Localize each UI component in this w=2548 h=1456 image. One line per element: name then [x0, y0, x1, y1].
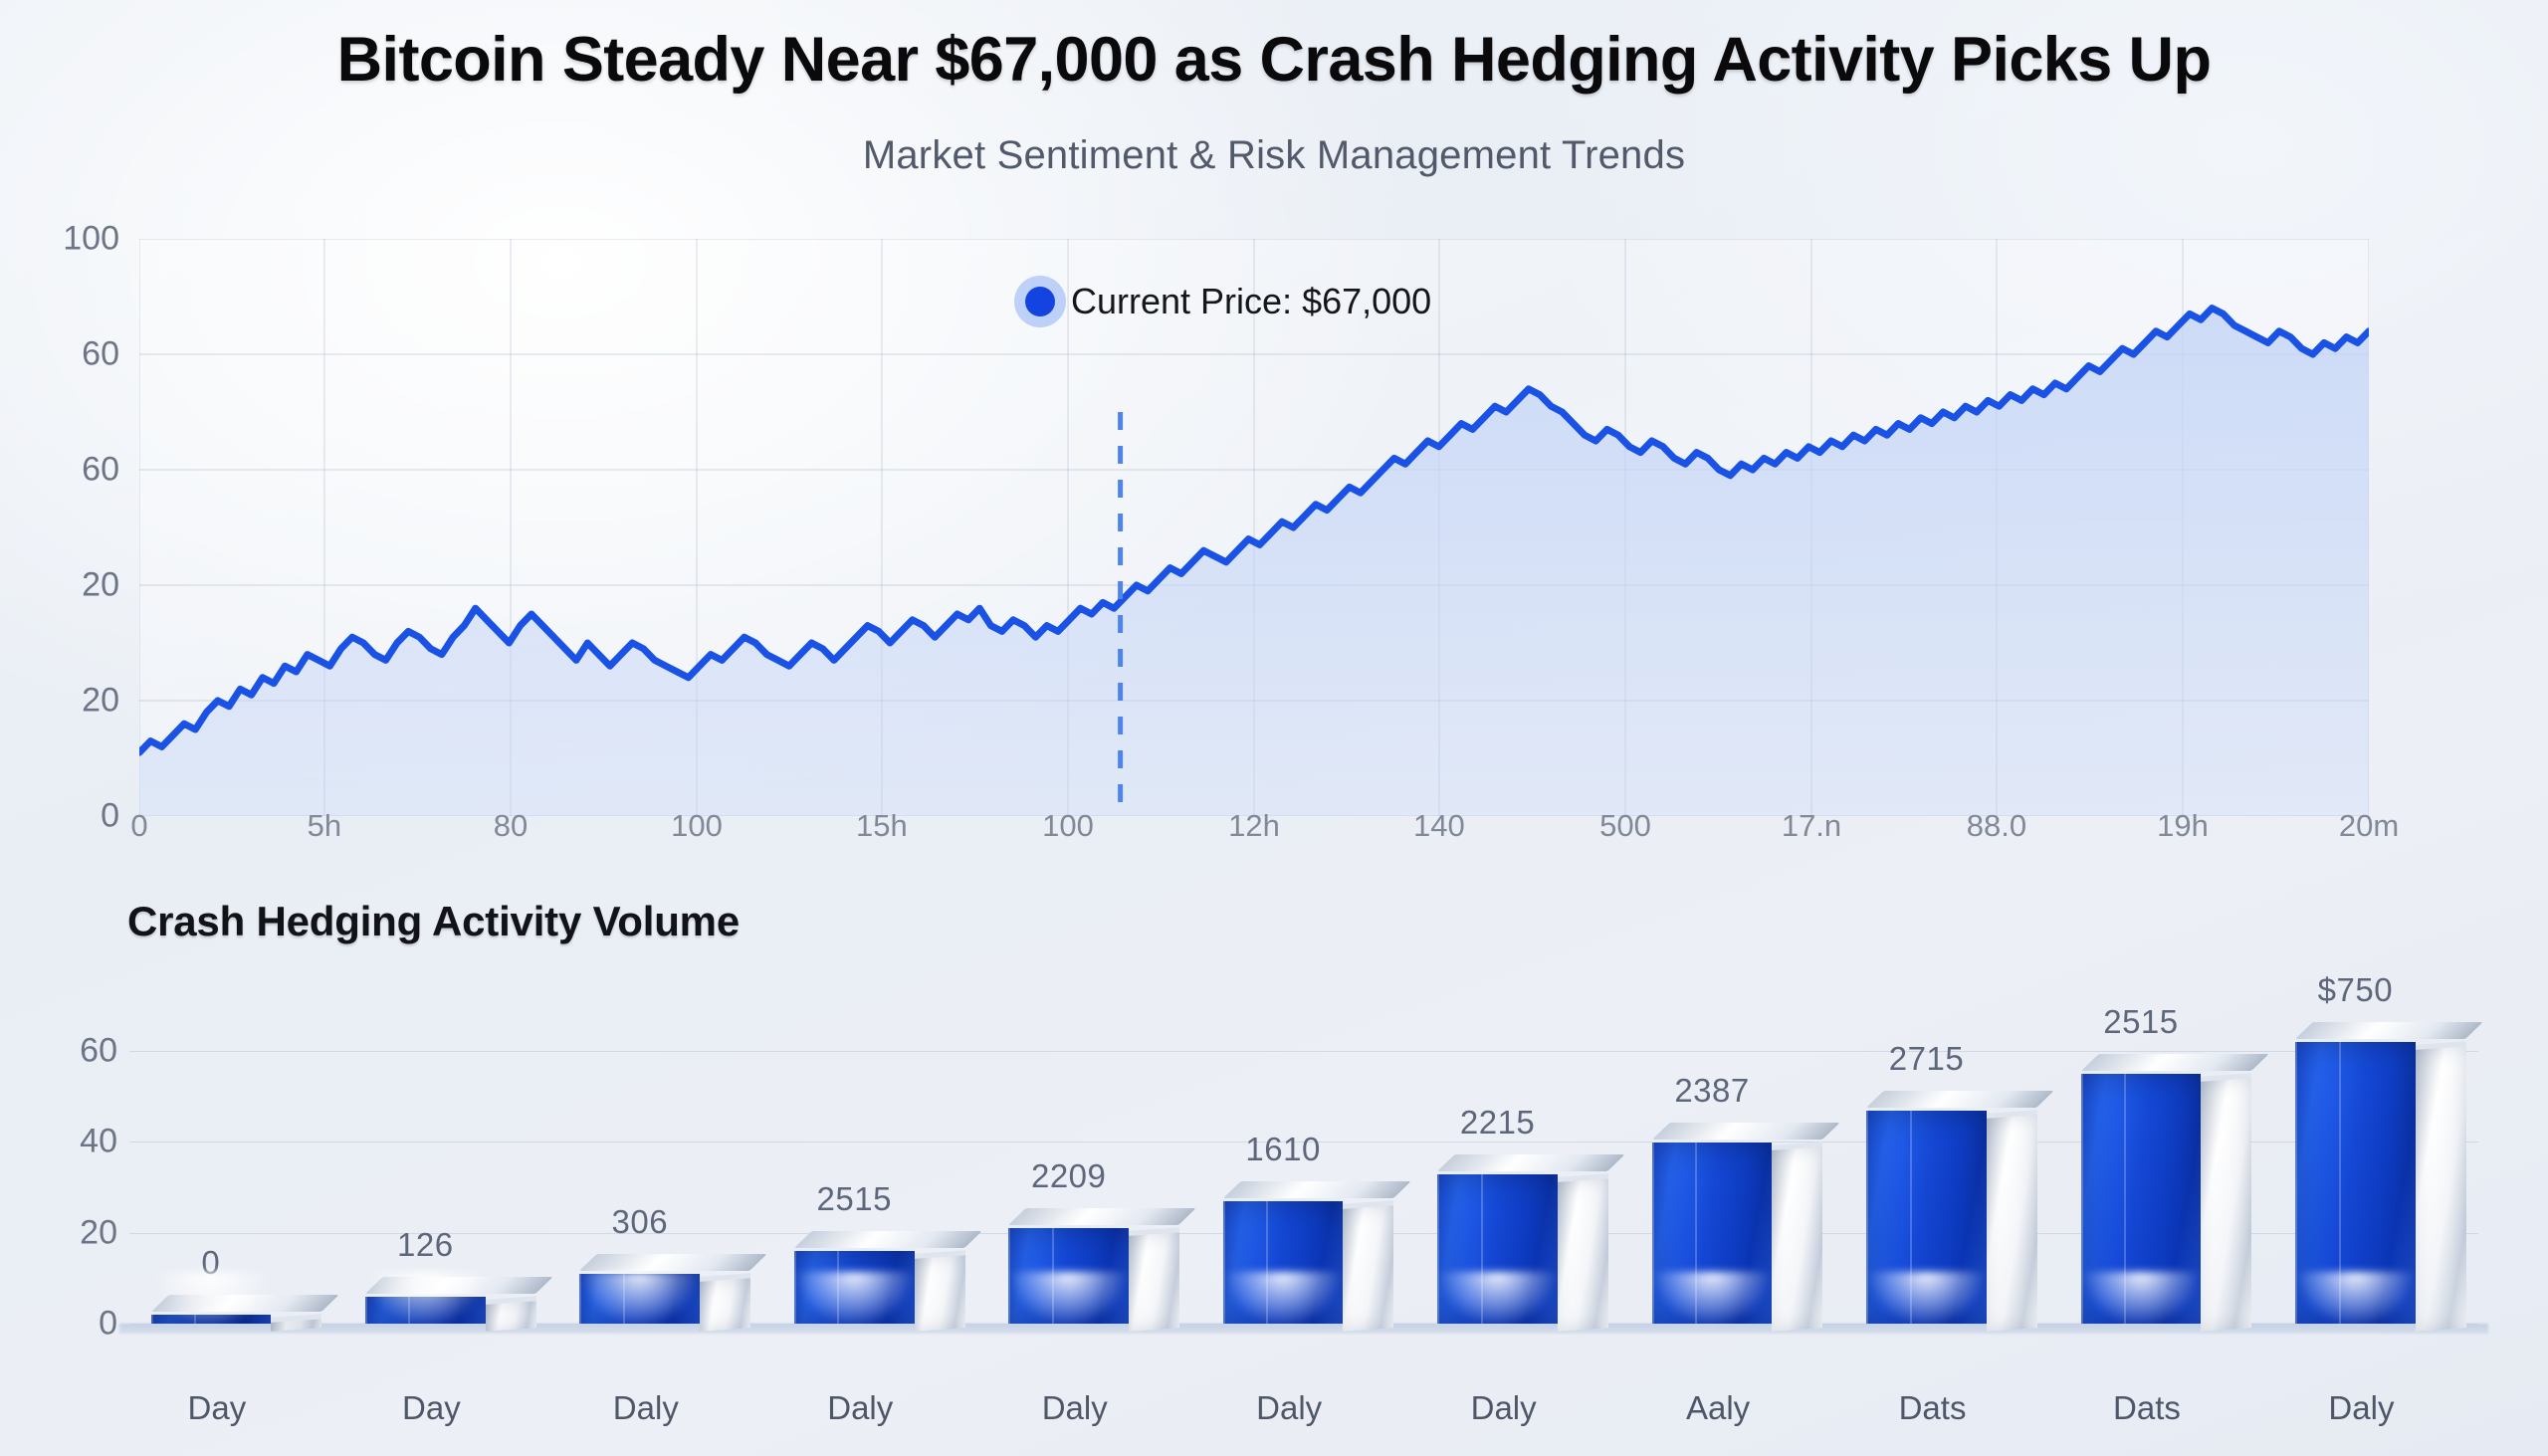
- line-x-tick: 12h: [1228, 808, 1280, 844]
- bar-y-tick: 40: [0, 1123, 117, 1161]
- bar-value-label: 306: [611, 1203, 668, 1241]
- bar-face: [151, 1310, 272, 1324]
- bar-column[interactable]: 2387: [1652, 1138, 1773, 1324]
- bar-top-cap: [1008, 1208, 1196, 1225]
- bar-column[interactable]: 2515: [794, 1246, 915, 1324]
- bar-y-tick: 0: [0, 1305, 117, 1344]
- bar-x-tick: Aaly: [1686, 1389, 1750, 1427]
- bar-column[interactable]: 2215: [1437, 1169, 1558, 1324]
- bar-x-tick: Daly: [827, 1389, 893, 1427]
- line-x-tick: 15h: [856, 808, 908, 844]
- line-x-tick: 0: [130, 808, 147, 844]
- bar-x-tick: Daly: [1471, 1389, 1537, 1427]
- bar-face: [579, 1269, 700, 1324]
- bar-top-cap: [1866, 1091, 2054, 1108]
- bar-top-cap: [365, 1277, 553, 1294]
- bar-top-cap: [2081, 1054, 2269, 1071]
- bar-y-tick: 60: [0, 1031, 117, 1070]
- line-x-tick: 17.n: [1782, 808, 1841, 844]
- bar-face: [1866, 1106, 1987, 1324]
- bar-side-panel: [486, 1296, 536, 1332]
- bar-side-panel: [1129, 1228, 1179, 1332]
- line-x-tick: 80: [494, 808, 528, 844]
- bar-value-label: 0: [201, 1244, 220, 1282]
- bar-face: [1437, 1169, 1558, 1324]
- bar-value-label: 126: [397, 1226, 454, 1264]
- line-x-tick: 100: [1042, 808, 1094, 844]
- line-y-tick: 60: [0, 335, 119, 374]
- bar-column[interactable]: $750: [2295, 1037, 2416, 1324]
- bar-side-panel: [1987, 1110, 2037, 1332]
- bar-column[interactable]: 126: [365, 1292, 486, 1324]
- bar-top-cap: [2295, 1022, 2483, 1039]
- bar-side-panel: [1772, 1142, 1822, 1332]
- bar-x-tick: Dats: [2113, 1389, 2181, 1427]
- bar-face: [794, 1246, 915, 1324]
- bar-value-label: 2515: [817, 1180, 892, 1218]
- current-price-dot-icon: [1025, 287, 1055, 316]
- line-chart-plot-area: [139, 239, 2369, 816]
- bar-value-label: 2387: [1674, 1072, 1749, 1110]
- bar-side-panel: [2201, 1073, 2251, 1332]
- bar-top-cap: [151, 1295, 339, 1312]
- bar-face: [1008, 1223, 1129, 1324]
- page-title: Bitcoin Steady Near $67,000 as Crash Hed…: [0, 24, 2548, 96]
- line-y-tick: 100: [0, 220, 119, 259]
- bar-face: [1652, 1138, 1773, 1324]
- bar-top-cap: [579, 1254, 767, 1271]
- bar-gridline: [129, 1051, 2478, 1052]
- bar-y-tick: 20: [0, 1213, 117, 1252]
- bar-x-tick: Dats: [1899, 1389, 1967, 1427]
- bar-value-label: 2515: [2103, 1003, 2178, 1041]
- screenshot-root: Bitcoin Steady Near $67,000 as Crash Hed…: [0, 0, 2548, 1456]
- line-x-tick: 20m: [2339, 808, 2399, 844]
- line-y-tick: 60: [0, 451, 119, 490]
- bar-value-label: 1610: [1245, 1131, 1320, 1168]
- current-price-label: Current Price: $67,000: [1071, 281, 1431, 322]
- current-price-annotation: Current Price: $67,000: [1025, 281, 1431, 322]
- bar-side-panel: [915, 1251, 965, 1332]
- bar-x-tick: Daly: [1256, 1389, 1322, 1427]
- bar-value-label: 2209: [1031, 1157, 1106, 1195]
- bar-value-label: $750: [2318, 971, 2393, 1009]
- line-y-tick: 20: [0, 682, 119, 721]
- bar-column[interactable]: 2515: [2081, 1069, 2202, 1324]
- hedging-volume-bar-chart: 0204060 01263062515220916102215238727152…: [0, 926, 2548, 1393]
- bar-column[interactable]: 0: [151, 1310, 272, 1324]
- bar-x-tick: Daly: [2328, 1389, 2394, 1427]
- line-x-tick: 88.0: [1967, 808, 2026, 844]
- bar-top-cap: [1437, 1154, 1625, 1171]
- bar-column[interactable]: 2209: [1008, 1223, 1129, 1324]
- line-x-tick: 100: [671, 808, 723, 844]
- bar-top-cap: [794, 1231, 982, 1248]
- bar-column[interactable]: 1610: [1223, 1196, 1344, 1324]
- line-y-tick: 0: [0, 797, 119, 836]
- line-x-tick: 5h: [308, 808, 341, 844]
- line-x-tick: 500: [1599, 808, 1651, 844]
- bar-face: [1223, 1196, 1344, 1324]
- bar-face: [365, 1292, 486, 1324]
- bar-value-label: 2215: [1460, 1104, 1535, 1142]
- bar-top-cap: [1652, 1123, 1840, 1140]
- page-subtitle: Market Sentiment & Risk Management Trend…: [0, 133, 2548, 178]
- bar-face: [2081, 1069, 2202, 1324]
- bar-x-tick: Daly: [1042, 1389, 1108, 1427]
- line-x-tick: 19h: [2157, 808, 2209, 844]
- bar-side-panel: [2416, 1041, 2466, 1332]
- line-y-tick: 20: [0, 566, 119, 605]
- bar-side-panel: [1343, 1200, 1393, 1332]
- bar-x-tick: Daly: [613, 1389, 679, 1427]
- bar-x-tick: Day: [402, 1389, 461, 1427]
- bar-side-panel: [700, 1273, 750, 1331]
- bar-column[interactable]: 306: [579, 1269, 700, 1324]
- bar-face: [2295, 1037, 2416, 1324]
- bar-side-panel: [1558, 1173, 1608, 1332]
- line-x-tick: 140: [1413, 808, 1465, 844]
- bar-top-cap: [1223, 1181, 1411, 1198]
- bar-baseline: [119, 1324, 2488, 1334]
- bar-column[interactable]: 2715: [1866, 1106, 1987, 1324]
- bar-x-tick: Day: [188, 1389, 247, 1427]
- bar-value-label: 2715: [1889, 1040, 1964, 1078]
